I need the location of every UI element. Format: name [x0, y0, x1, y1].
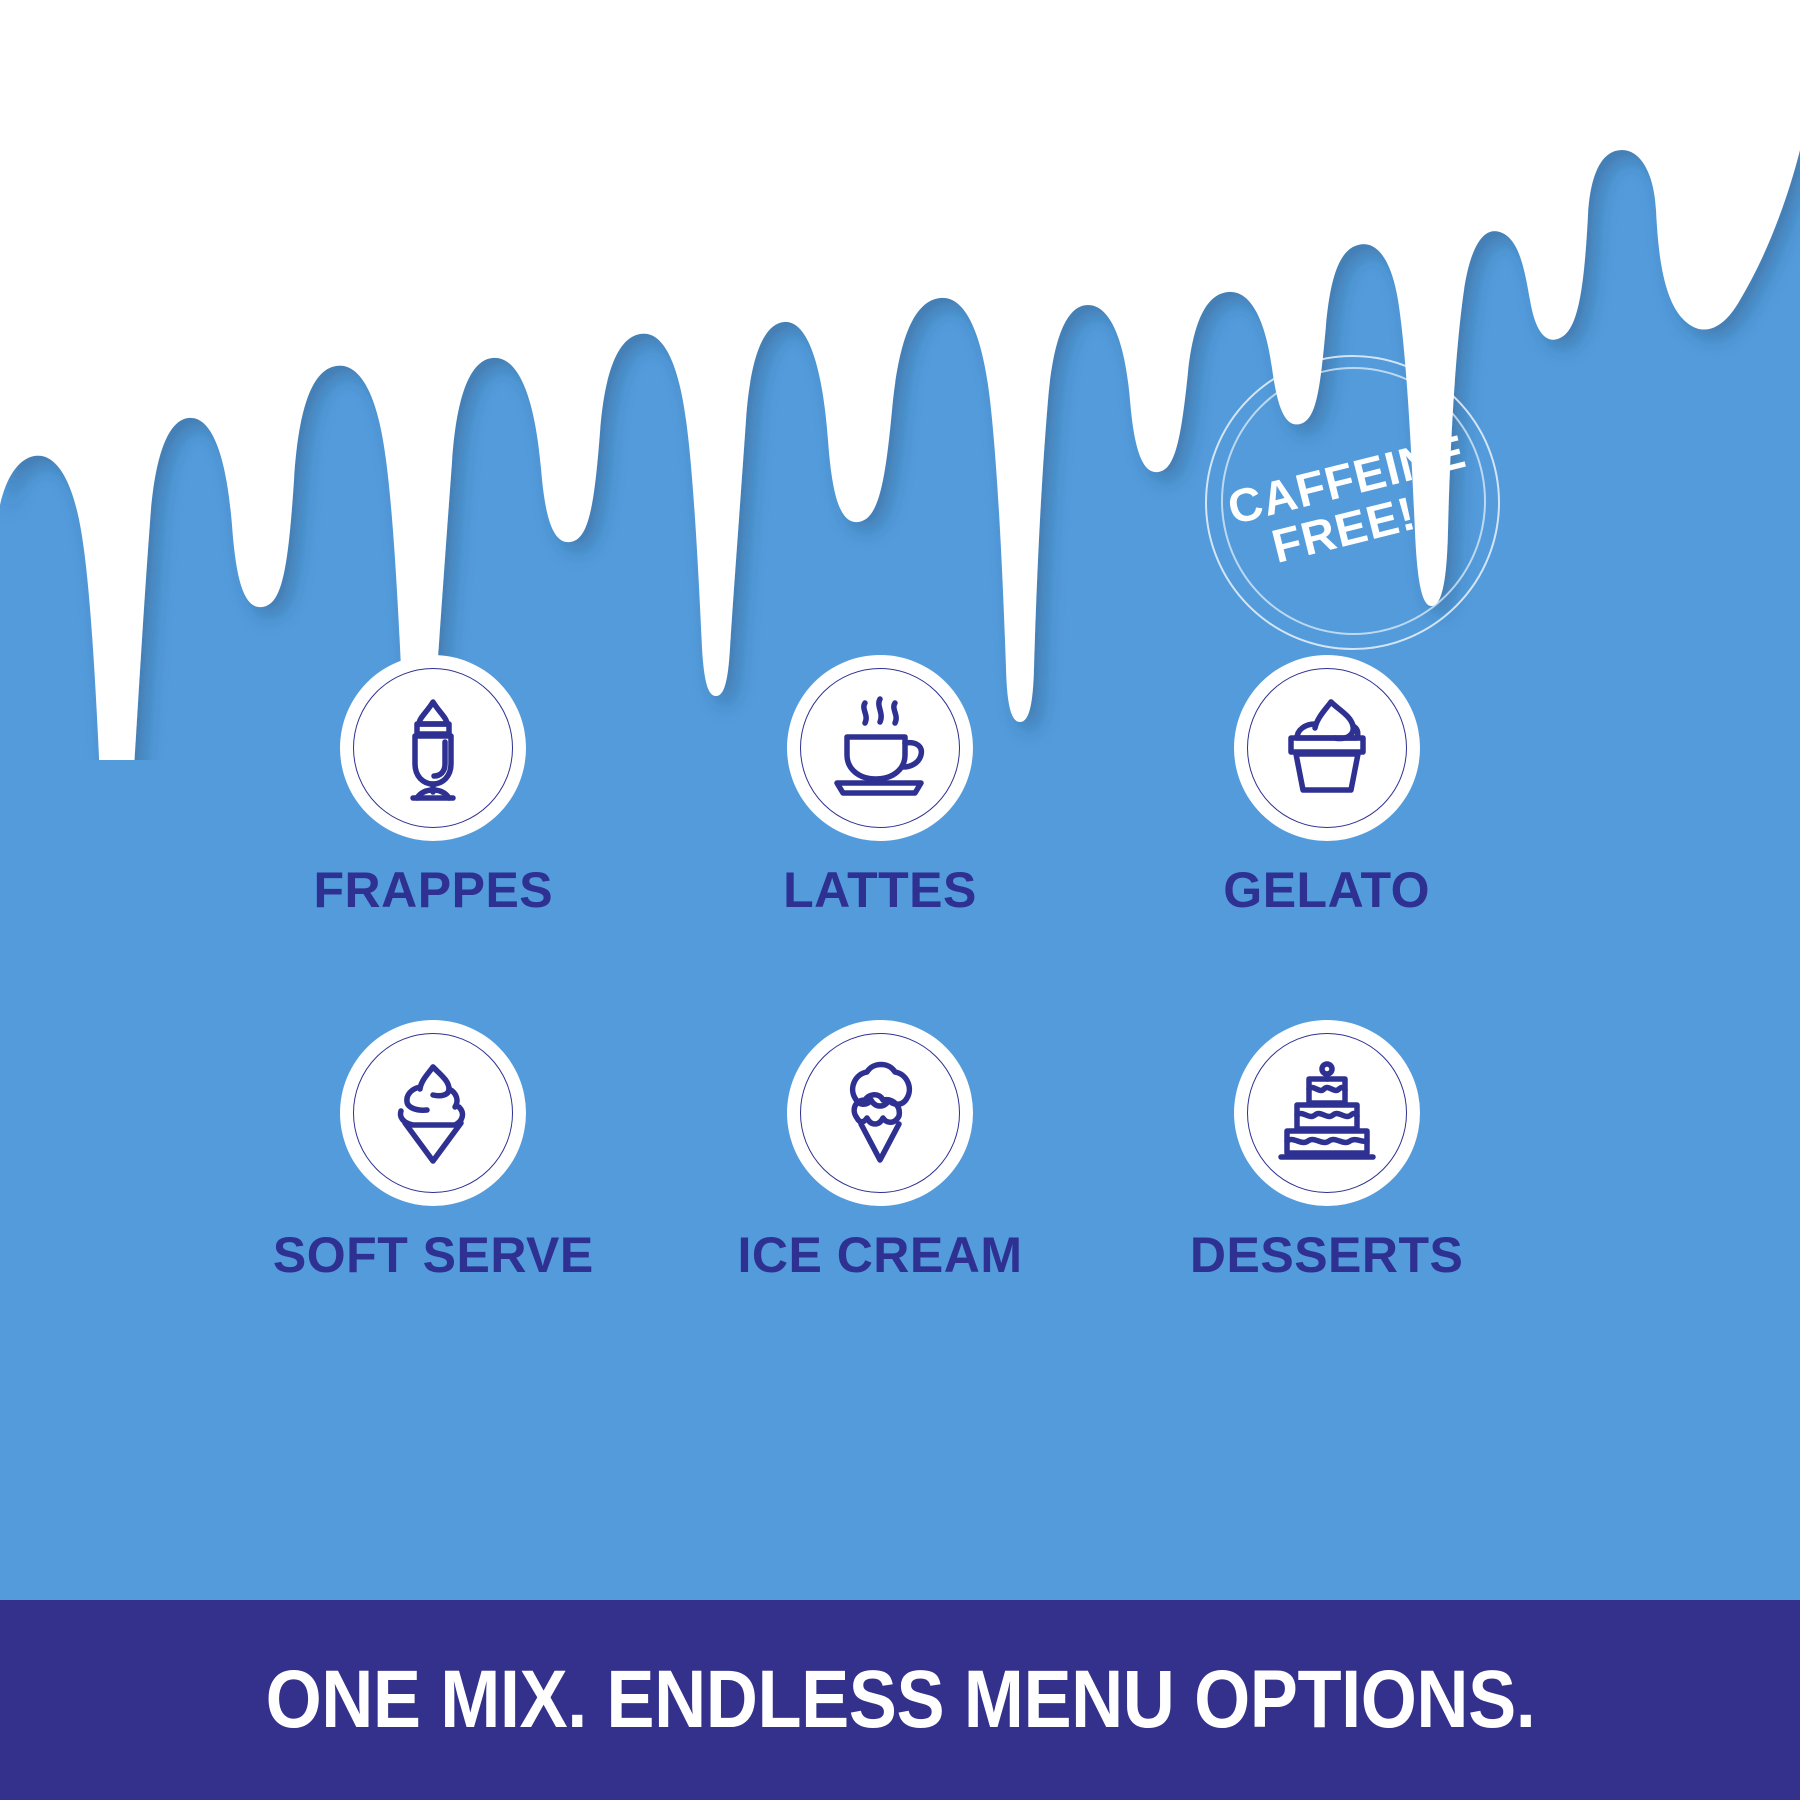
soft-serve-icon-ring: [353, 1033, 513, 1193]
menu-label-soft-serve: SOFT SERVE: [273, 1230, 594, 1280]
banner-headline: ONE MIX. ENDLESS MENU OPTIONS.: [265, 1653, 1535, 1747]
menu-item-gelato[interactable]: GELATO: [1103, 655, 1550, 1010]
lattes-icon-disc[interactable]: [787, 655, 973, 841]
soft-serve-icon-disc[interactable]: [340, 1020, 526, 1206]
badge-text-block: CAFFEINE FREE!: [1174, 324, 1532, 682]
frappes-icon-disc[interactable]: [340, 655, 526, 841]
poster-canvas: CAFFEINE FREE! FR: [0, 0, 1800, 1800]
tiered-cake-icon: [1269, 1055, 1385, 1171]
lattes-icon-ring: [800, 668, 960, 828]
dripping-cream-graphic: [0, 0, 1800, 760]
menu-item-soft-serve[interactable]: SOFT SERVE: [210, 1020, 657, 1375]
drip-shape: [0, 0, 1800, 760]
menu-item-lattes[interactable]: LATTES: [657, 655, 1104, 1010]
bottom-banner: ONE MIX. ENDLESS MENU OPTIONS.: [0, 1600, 1800, 1800]
frappes-icon-ring: [353, 668, 513, 828]
menu-item-frappes[interactable]: FRAPPES: [210, 655, 657, 1010]
ice-cream-scoops-cone-icon: [825, 1058, 935, 1168]
menu-item-desserts[interactable]: DESSERTS: [1103, 1020, 1550, 1375]
menu-label-ice-cream: ICE CREAM: [737, 1230, 1022, 1280]
soft-serve-cone-icon: [377, 1057, 489, 1169]
menu-label-frappes: FRAPPES: [313, 865, 553, 915]
caffeine-free-badge: CAFFEINE FREE!: [1205, 355, 1500, 650]
menu-label-gelato: GELATO: [1223, 865, 1430, 915]
menu-label-lattes: LATTES: [783, 865, 977, 915]
desserts-icon-disc[interactable]: [1234, 1020, 1420, 1206]
desserts-icon-ring: [1247, 1033, 1407, 1193]
menu-item-ice-cream[interactable]: ICE CREAM: [657, 1020, 1104, 1375]
gelato-icon-ring: [1247, 668, 1407, 828]
gelato-icon-disc[interactable]: [1234, 655, 1420, 841]
menu-options-grid: FRAPPES LATTES: [210, 655, 1550, 1375]
coffee-cup-icon: [821, 689, 939, 807]
gelato-tub-icon: [1269, 690, 1385, 806]
menu-label-desserts: DESSERTS: [1190, 1230, 1464, 1280]
frappe-glass-icon: [377, 692, 489, 804]
ice-cream-icon-ring: [800, 1033, 960, 1193]
ice-cream-icon-disc[interactable]: [787, 1020, 973, 1206]
